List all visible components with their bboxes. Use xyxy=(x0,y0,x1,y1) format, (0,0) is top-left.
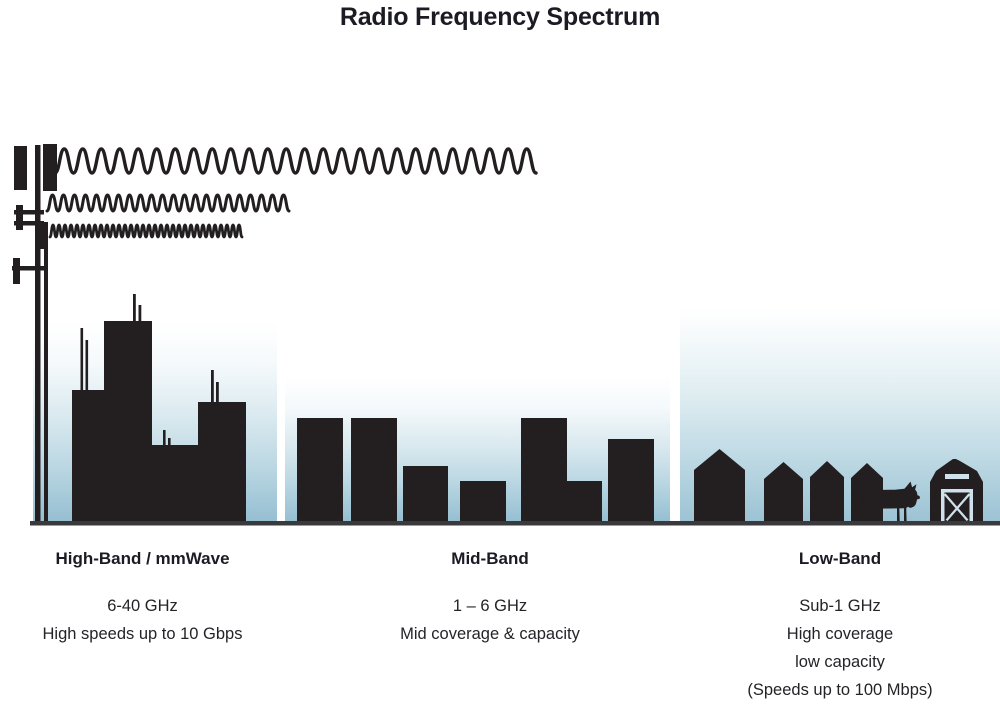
infographic-canvas: Radio Frequency Spectrum xyxy=(0,0,1000,700)
building-mid-5 xyxy=(521,418,567,521)
band-description-high: 6-40 GHz High speeds up to 10 Gbps xyxy=(0,592,285,648)
building-spire xyxy=(81,328,84,392)
short-wave xyxy=(50,225,242,237)
band-frequency-high: 6-40 GHz xyxy=(0,592,285,620)
band-detail-high-1: High speeds up to 10 Gbps xyxy=(0,620,285,648)
building-high-2 xyxy=(104,321,152,521)
building-mid-2 xyxy=(351,418,397,521)
band-description-low: Sub-1 GHz High coverage low capacity (Sp… xyxy=(680,592,1000,704)
building-spire xyxy=(133,294,136,324)
antenna-panel-top-left xyxy=(14,146,27,190)
band-detail-mid-1: Mid coverage & capacity xyxy=(345,620,635,648)
barn-hayloft-window xyxy=(945,474,969,479)
building-spire xyxy=(216,382,219,404)
antenna-panel-lower-small xyxy=(13,258,20,284)
band-detail-low-1: High coverage xyxy=(680,620,1000,648)
band-description-mid: 1 – 6 GHz Mid coverage & capacity xyxy=(345,592,635,648)
medium-wave xyxy=(47,195,289,211)
antenna-crossbar-upper-2 xyxy=(14,221,44,226)
building-mid-6 xyxy=(567,481,602,521)
long-wave xyxy=(55,149,536,173)
building-high-4 xyxy=(198,402,246,521)
band-detail-low-2: low capacity xyxy=(680,648,1000,676)
building-mid-7 xyxy=(608,439,654,521)
building-mid-3 xyxy=(403,466,448,521)
band-frequency-mid: 1 – 6 GHz xyxy=(345,592,635,620)
radio-waves xyxy=(47,149,536,237)
band-label-mid: Mid-Band xyxy=(345,549,635,569)
building-spire xyxy=(211,370,214,404)
antenna-panel-top-right xyxy=(43,144,57,191)
antenna-crossbar-upper xyxy=(14,210,44,215)
tower-mast xyxy=(35,145,41,521)
building-spire xyxy=(86,340,89,392)
antenna-crossbar-lower xyxy=(12,266,45,271)
band-frequency-low: Sub-1 GHz xyxy=(680,592,1000,620)
antenna-panel-upper-small xyxy=(16,205,23,230)
antenna-panel-mid-small xyxy=(40,225,47,249)
building-mid-1 xyxy=(297,418,343,521)
band-label-high: High-Band / mmWave xyxy=(0,549,285,569)
band-label-low: Low-Band xyxy=(680,549,1000,569)
ground-line xyxy=(30,521,1000,526)
building-mid-4 xyxy=(460,481,506,521)
building-high-3 xyxy=(152,445,198,521)
